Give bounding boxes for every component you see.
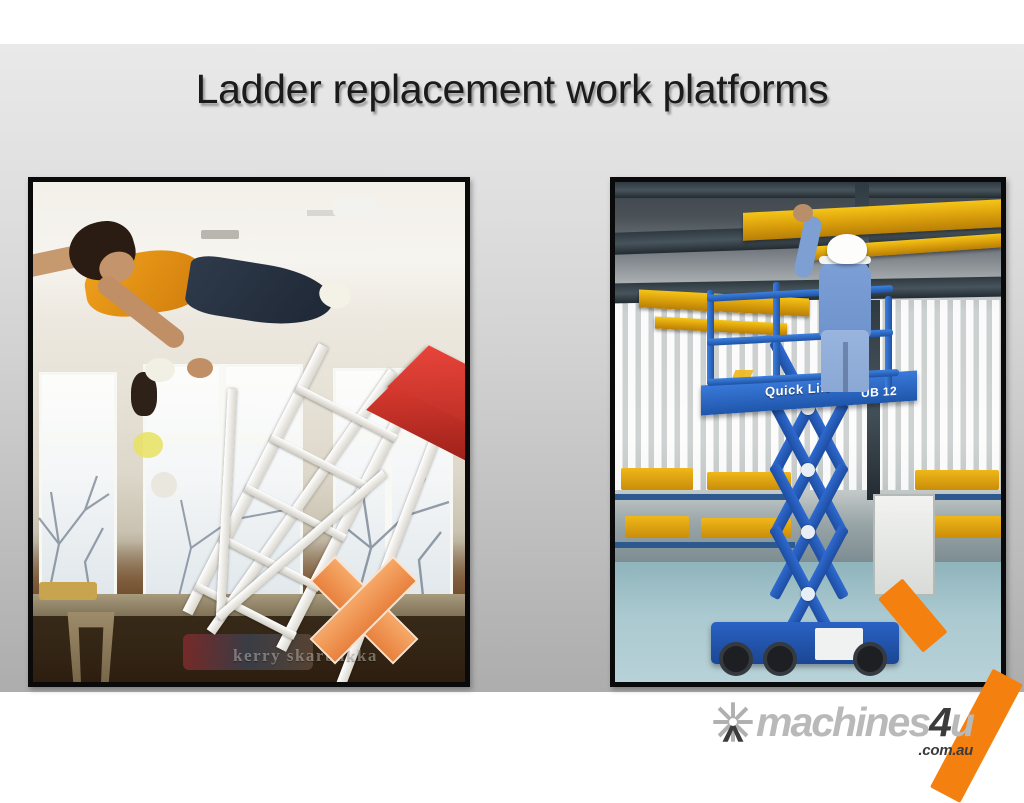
lift-wheel bbox=[763, 642, 797, 676]
machines4u-logo: machines4u .com.au bbox=[712, 698, 973, 746]
yellow-stock bbox=[621, 468, 693, 490]
yellow-stock bbox=[915, 470, 999, 490]
logo-word-u: u bbox=[950, 699, 973, 745]
logo-word-four: 4 bbox=[929, 699, 950, 745]
slide-root: Ladder replacement work platforms bbox=[0, 0, 1024, 768]
falling-person bbox=[28, 190, 327, 370]
scissor-mechanism bbox=[743, 376, 875, 626]
scissor-section bbox=[743, 500, 875, 564]
scissor-section bbox=[743, 438, 875, 502]
yellow-stock bbox=[625, 516, 689, 538]
wall-lamp bbox=[133, 432, 163, 458]
worker-torso bbox=[819, 260, 871, 338]
check-mark-stroke bbox=[878, 578, 948, 652]
person-sock bbox=[145, 358, 175, 382]
top-white-band bbox=[0, 0, 1024, 44]
lift-wheel bbox=[719, 642, 753, 676]
ceiling-track-light bbox=[333, 198, 377, 216]
check-mark-icon bbox=[870, 533, 1006, 657]
logo-wordmark: machines4u .com.au bbox=[756, 702, 973, 743]
x-mark-icon bbox=[305, 551, 423, 669]
logo-word-machines: machines bbox=[756, 699, 929, 745]
scissor-pin bbox=[801, 587, 815, 601]
person-hand bbox=[187, 358, 213, 378]
person-legs bbox=[183, 253, 336, 333]
steel-beam bbox=[615, 182, 1001, 198]
ladder-brace bbox=[216, 389, 237, 619]
page-title: Ladder replacement work platforms bbox=[0, 66, 1024, 113]
logo-tld: .com.au bbox=[918, 743, 973, 758]
scissor-pin bbox=[801, 463, 815, 477]
scissor-section bbox=[743, 562, 875, 626]
worker-legs-gap bbox=[843, 342, 848, 392]
scissor-pin bbox=[801, 525, 815, 539]
hard-hat bbox=[827, 234, 867, 264]
worker-hand bbox=[793, 204, 813, 222]
desk-clutter bbox=[39, 582, 97, 600]
starburst-icon bbox=[712, 701, 754, 743]
